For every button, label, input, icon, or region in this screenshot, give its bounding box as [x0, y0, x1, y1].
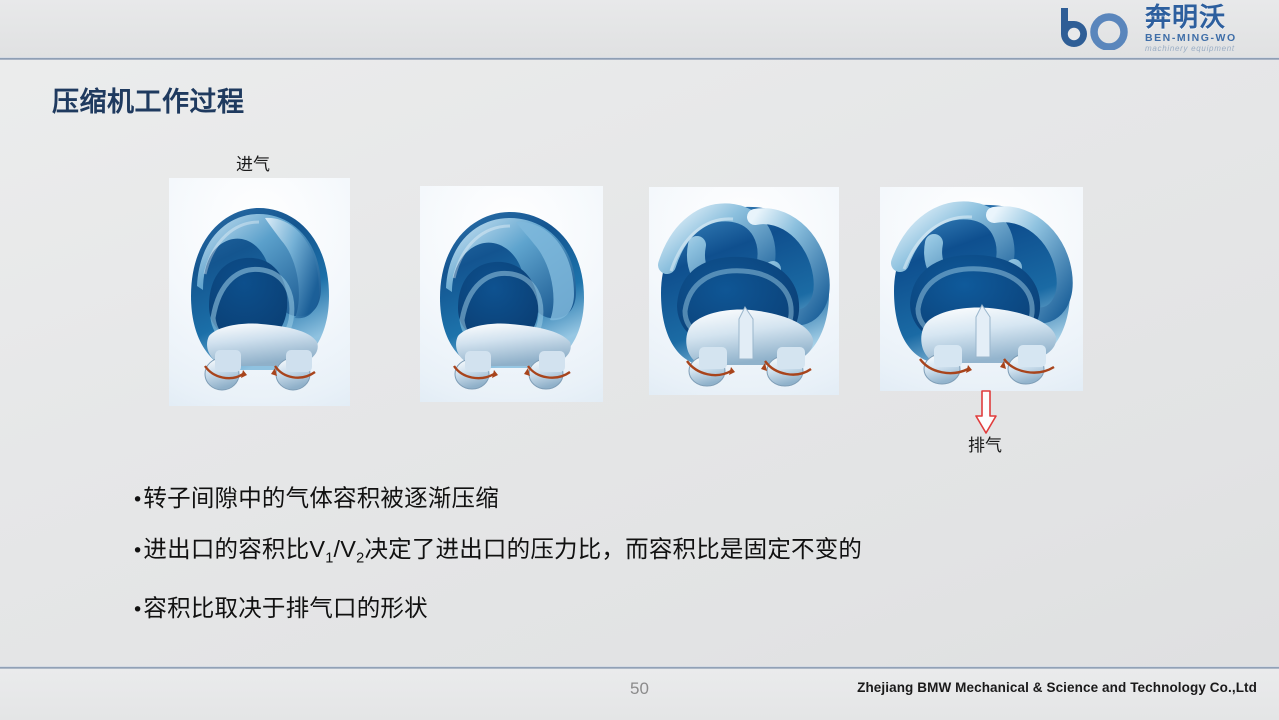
bullet-marker: •	[132, 599, 143, 621]
header-divider	[0, 57, 1279, 60]
logo-english-name: BEN-MING-WO	[1145, 32, 1237, 44]
bullet-item-1: •转子间隙中的气体容积被逐渐压缩	[132, 474, 1162, 525]
bullet-list: •转子间隙中的气体容积被逐渐压缩 •进出口的容积比V1/V2决定了进出口的压力比…	[132, 474, 1162, 635]
ratio-v1: V	[309, 536, 325, 562]
bullet-marker: •	[132, 489, 143, 511]
rotor-stage-image-2	[420, 186, 603, 402]
intake-label: 进气	[236, 150, 270, 175]
rotor-stage-image-4	[880, 187, 1083, 391]
bullet-text: 容积比取决于排气口的形状	[143, 594, 427, 622]
bullet-item-3: •容积比取决于排气口的形状	[132, 584, 1162, 635]
bullet-marker: •	[132, 540, 143, 562]
bullet-text-after: 决定了进出口的压力比，而容积比是固定不变的	[364, 535, 862, 563]
bullet-text-before: 进出口的容积比	[143, 535, 309, 563]
bullet-item-2: •进出口的容积比V1/V2决定了进出口的压力比，而容积比是固定不变的	[132, 525, 1162, 584]
ratio-slash-v2: /V	[334, 536, 357, 562]
exhaust-label: 排气	[968, 431, 1002, 456]
bullet-text: 转子间隙中的气体容积被逐渐压缩	[143, 484, 499, 512]
page-title: 压缩机工作过程	[52, 80, 245, 119]
logo-chinese-name: 奔明沃	[1145, 5, 1237, 32]
arrow-down-outline-icon	[975, 390, 997, 435]
rotor-stage-image-1	[169, 178, 350, 406]
rotor-stage-image-3	[649, 187, 839, 395]
logo-tagline: machinery equipment	[1145, 44, 1237, 54]
logo-text-group: 奔明沃 BEN-MING-WO machinery equipment	[1145, 4, 1237, 54]
footer-company-name: Zhejiang BMW Mechanical & Science and Te…	[857, 680, 1257, 695]
company-logo: 奔明沃 BEN-MING-WO machinery equipment	[1055, 4, 1267, 56]
bo-monogram-icon	[1055, 4, 1141, 50]
ratio-sub-1: 1	[325, 551, 333, 567]
volume-ratio-formula: V1/V2	[309, 536, 364, 562]
